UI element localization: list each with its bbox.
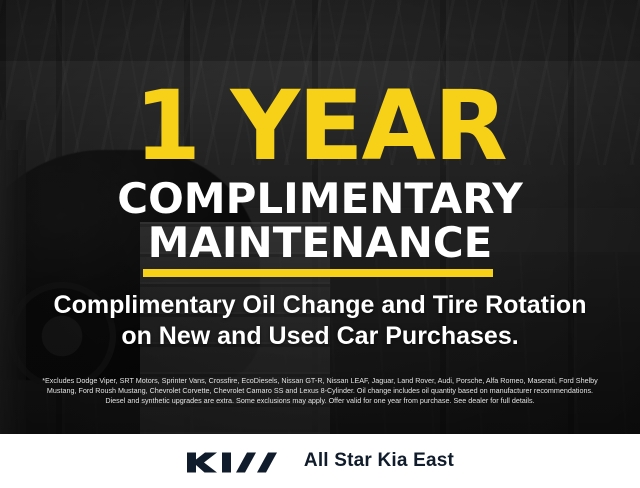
disclaimer-text: *Excludes Dodge Viper, SRT Motors, Sprin… (14, 376, 626, 407)
dealer-name-label: All Star Kia East (304, 450, 454, 472)
yellow-divider-bar (143, 269, 493, 277)
disclaimer-line-1: *Excludes Dodge Viper, SRT Motors, Sprin… (14, 376, 626, 386)
headline-secondary-line-1: COMPLIMENTARY (0, 178, 640, 220)
headline-primary: 1 YEAR (0, 78, 640, 174)
disclaimer-line-3: Diesel and synthetic upgrades are extra.… (14, 396, 626, 406)
headline-secondary-line-2: MAINTENANCE (0, 222, 640, 264)
disclaimer-line-2: Mustang, Ford Roush Mustang, Chevrolet C… (14, 386, 626, 396)
dealer-footer-bar: All Star Kia East (0, 434, 640, 488)
promotional-banner: 1 YEAR COMPLIMENTARY MAINTENANCE Complim… (0, 0, 640, 488)
banner-content: 1 YEAR COMPLIMENTARY MAINTENANCE Complim… (0, 0, 640, 434)
kia-logo-icon (186, 448, 278, 474)
promo-description-line-1: Complimentary Oil Change and Tire Rotati… (0, 290, 640, 321)
promo-description-line-2: on New and Used Car Purchases. (0, 321, 640, 352)
promo-description: Complimentary Oil Change and Tire Rotati… (0, 290, 640, 352)
